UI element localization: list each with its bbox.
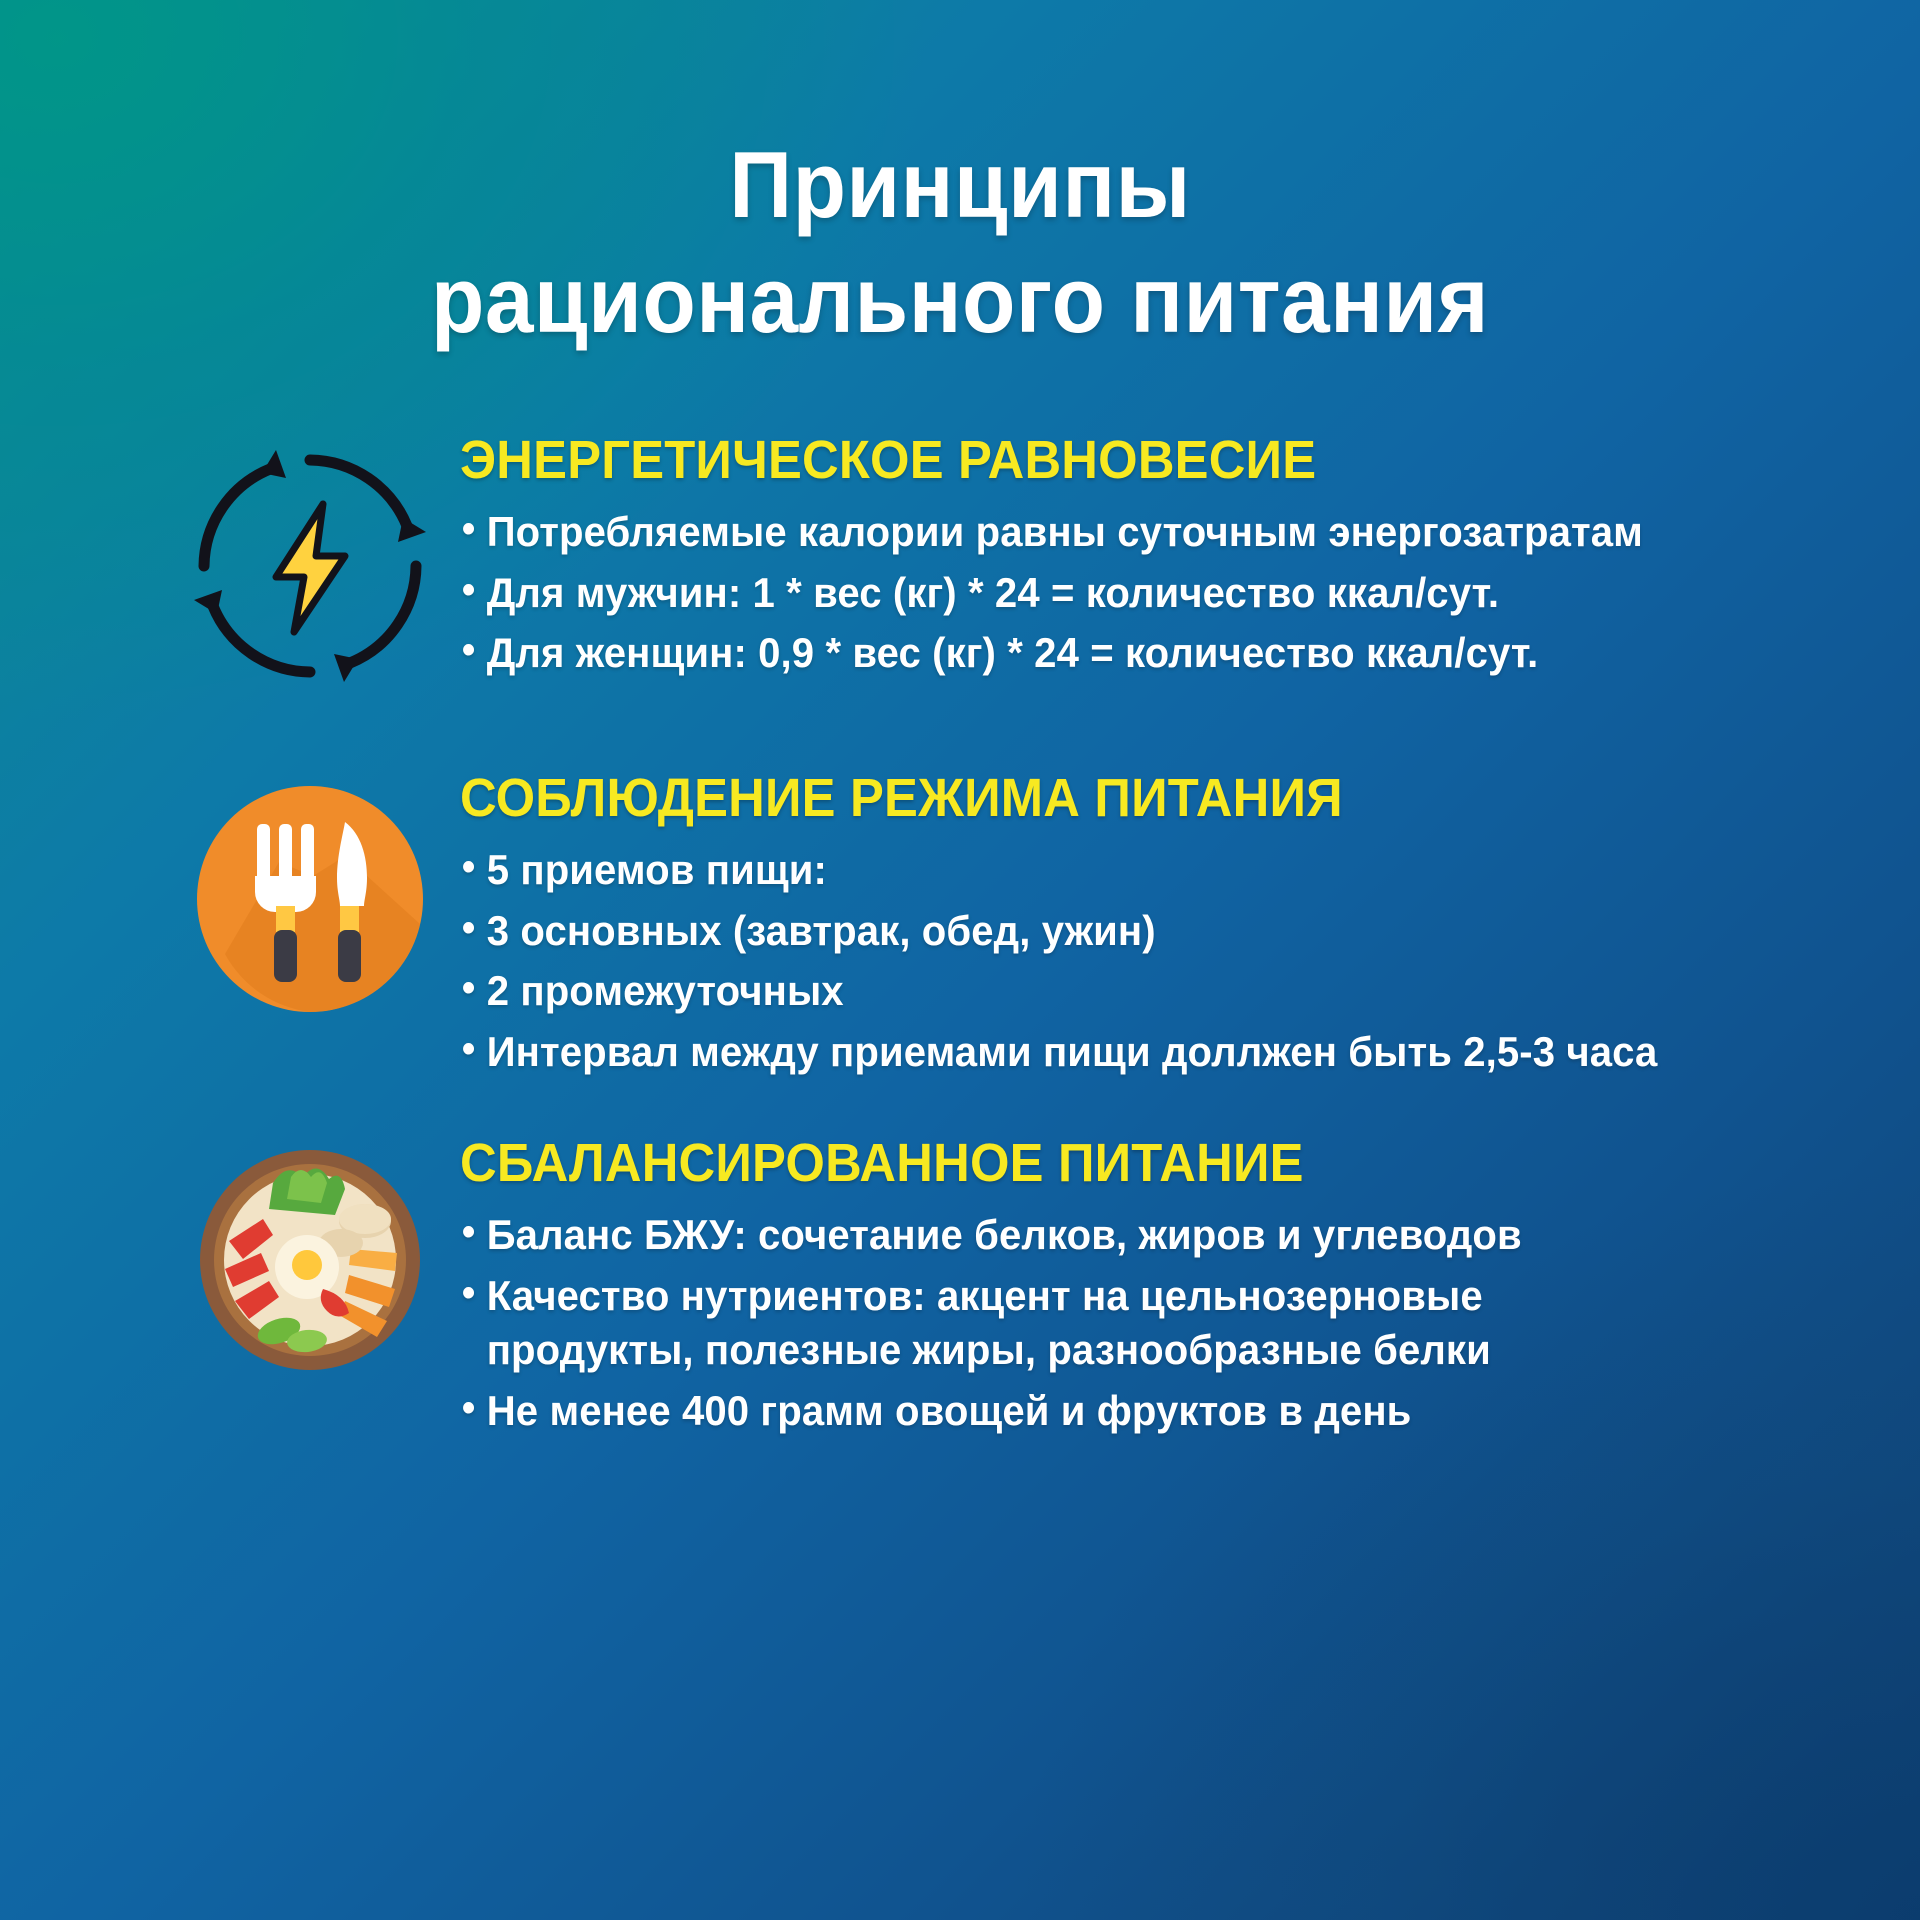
list-item: 2 промежуточных bbox=[460, 964, 1673, 1019]
list-item: Качество нутриентов: акцент на цельнозер… bbox=[460, 1269, 1673, 1378]
list-item: Баланс БЖУ: сочетание белков, жиров и уг… bbox=[460, 1208, 1673, 1263]
salad-bowl-icon bbox=[199, 1149, 421, 1371]
section-heading: ЭНЕРГЕТИЧЕСКОЕ РАВНОВЕСИЕ bbox=[460, 432, 1654, 489]
fork-knife-icon bbox=[195, 784, 425, 1014]
section-icon-container bbox=[160, 1135, 460, 1371]
section-heading: СБАЛАНСИРОВАННОЕ ПИТАНИЕ bbox=[460, 1135, 1654, 1192]
section-meal-schedule: СОБЛЮДЕНИЕ РЕЖИМА ПИТАНИЯ 5 приемов пищи… bbox=[160, 770, 1730, 1086]
section-bullet-list: Потребляемые калории равны суточным энер… bbox=[460, 505, 1730, 681]
list-item: Интервал между приемами пищи доллжен быт… bbox=[460, 1025, 1673, 1080]
section-bullet-list: 5 приемов пищи: 3 основных (завтрак, обе… bbox=[460, 843, 1730, 1079]
list-item: Для женщин: 0,9 * вес (кг) * 24 = количе… bbox=[460, 626, 1673, 681]
page-title-line-1: Принципы bbox=[67, 128, 1853, 243]
section-text-container: СБАЛАНСИРОВАННОЕ ПИТАНИЕ Баланс БЖУ: соч… bbox=[460, 1135, 1730, 1445]
section-balanced-nutrition: СБАЛАНСИРОВАННОЕ ПИТАНИЕ Баланс БЖУ: соч… bbox=[160, 1135, 1730, 1445]
section-icon-container bbox=[160, 432, 460, 686]
section-heading: СОБЛЮДЕНИЕ РЕЖИМА ПИТАНИЯ bbox=[460, 770, 1654, 827]
list-item: 3 основных (завтрак, обед, ужин) bbox=[460, 904, 1673, 959]
section-text-container: СОБЛЮДЕНИЕ РЕЖИМА ПИТАНИЯ 5 приемов пищи… bbox=[460, 770, 1730, 1086]
section-bullet-list: Баланс БЖУ: сочетание белков, жиров и уг… bbox=[460, 1208, 1730, 1438]
list-item: Потребляемые калории равны суточным энер… bbox=[460, 505, 1673, 560]
energy-cycle-icon bbox=[190, 446, 430, 686]
list-item: Для мужчин: 1 * вес (кг) * 24 = количест… bbox=[460, 566, 1673, 621]
section-energy-balance: ЭНЕРГЕТИЧЕСКОЕ РАВНОВЕСИЕ Потребляемые к… bbox=[160, 432, 1730, 687]
list-item: Не менее 400 грамм овощей и фруктов в де… bbox=[460, 1384, 1673, 1439]
section-icon-container bbox=[160, 770, 460, 1014]
page-title-line-2: рационального питания bbox=[67, 243, 1853, 358]
section-text-container: ЭНЕРГЕТИЧЕСКОЕ РАВНОВЕСИЕ Потребляемые к… bbox=[460, 432, 1730, 687]
page-title: Принципы рационального питания bbox=[0, 128, 1920, 357]
list-item: 5 приемов пищи: bbox=[460, 843, 1673, 898]
